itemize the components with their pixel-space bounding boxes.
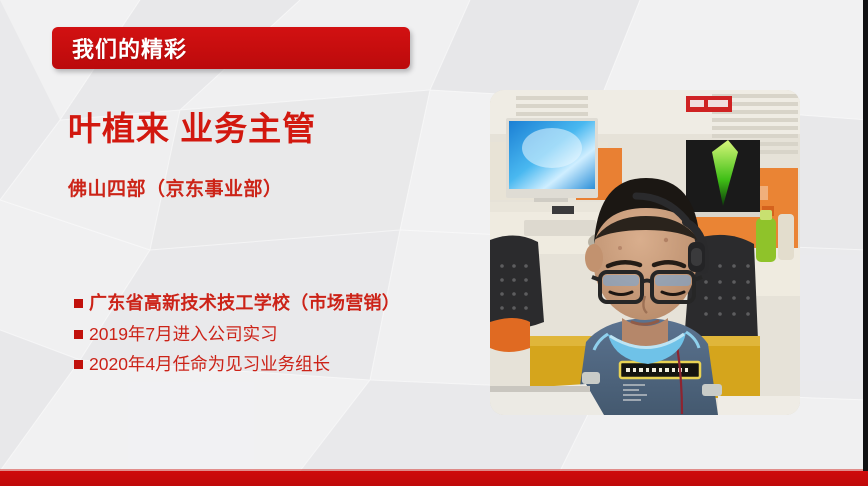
person-department: 佛山四部（京东事业部） [68,174,488,201]
presentation-slide: 我们的精彩 叶植来 业务主管 佛山四部（京东事业部） 广东省高新技术技工学校（市… [0,0,868,486]
right-edge-accent [863,0,868,471]
slide-header-banner: 我们的精彩 [52,27,410,69]
square-bullet-icon [74,360,83,369]
list-item: 广东省高新技术技工学校（市场营销） [74,292,504,315]
square-bullet-icon [74,330,83,339]
list-item: 2020年4月任命为见习业务组长 [74,354,504,376]
footer-red-bar [0,471,868,486]
square-bullet-icon [74,299,83,308]
employee-photo [490,90,800,415]
list-item-label: 2020年4月任命为见习业务组长 [89,354,330,376]
list-item-label: 广东省高新技术技工学校（市场营销） [89,292,400,315]
person-info-block: 叶植来 业务主管 佛山四部（京东事业部） [68,110,488,201]
achievements-list: 广东省高新技术技工学校（市场营销） 2019年7月进入公司实习 2020年4月任… [74,292,504,385]
list-item-label: 2019年7月进入公司实习 [89,324,278,346]
list-item: 2019年7月进入公司实习 [74,324,504,346]
header-banner-label: 我们的精彩 [72,32,187,64]
person-name-and-role: 叶植来 业务主管 [68,110,488,148]
